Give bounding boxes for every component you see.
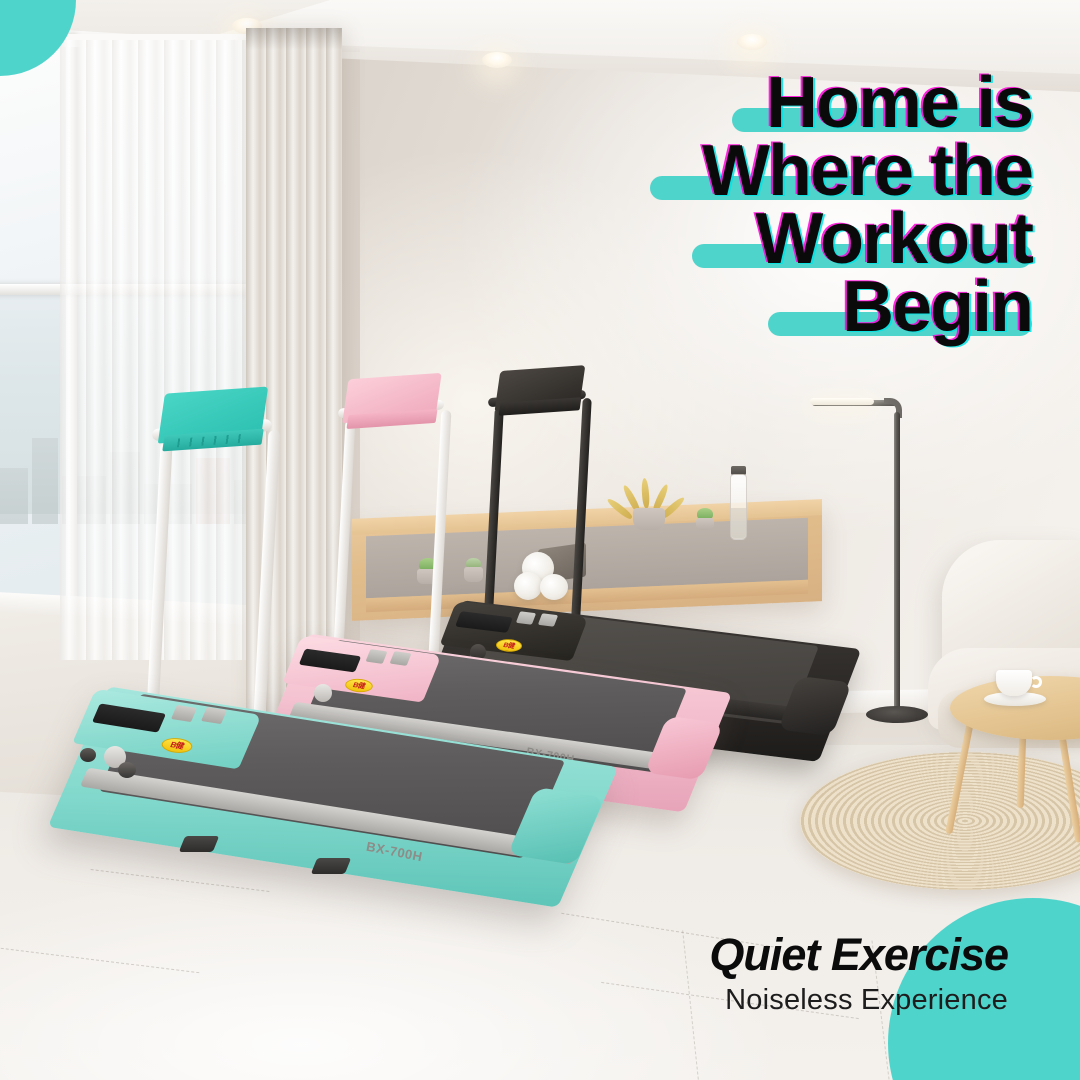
cup-handle-icon <box>1030 676 1042 688</box>
headline-line-1: Home is <box>472 70 1032 136</box>
treadmill-teal[interactable]: B健 BX-700H <box>74 396 604 896</box>
front-wheel <box>118 762 136 778</box>
headline-line-2: Where the <box>472 138 1032 204</box>
headline-line-4: Begin <box>472 274 1032 340</box>
deck-foot <box>311 858 351 874</box>
footer-text-block: Quiet Exercise Noiseless Experience <box>448 930 1008 1018</box>
tagline: Quiet Exercise <box>448 930 1008 980</box>
floor-lamp-base <box>866 706 928 723</box>
ceiling-light <box>737 34 767 50</box>
handlebar-post <box>251 430 280 756</box>
ceiling-light <box>482 52 512 68</box>
curtain-shadow <box>246 28 342 50</box>
floor-lamp-pole <box>894 412 900 712</box>
headline-line-4-text: Begin <box>842 267 1032 347</box>
deck-foot <box>179 836 219 852</box>
poster-canvas: B健 BX-700H B健 BX-700H <box>0 0 1080 1080</box>
subtitle: Noiseless Experience <box>448 982 1008 1018</box>
headline-line-3: Workout <box>472 206 1032 272</box>
headline: Home is Where the Workout Begin <box>472 70 1032 342</box>
front-wheel <box>80 748 96 762</box>
